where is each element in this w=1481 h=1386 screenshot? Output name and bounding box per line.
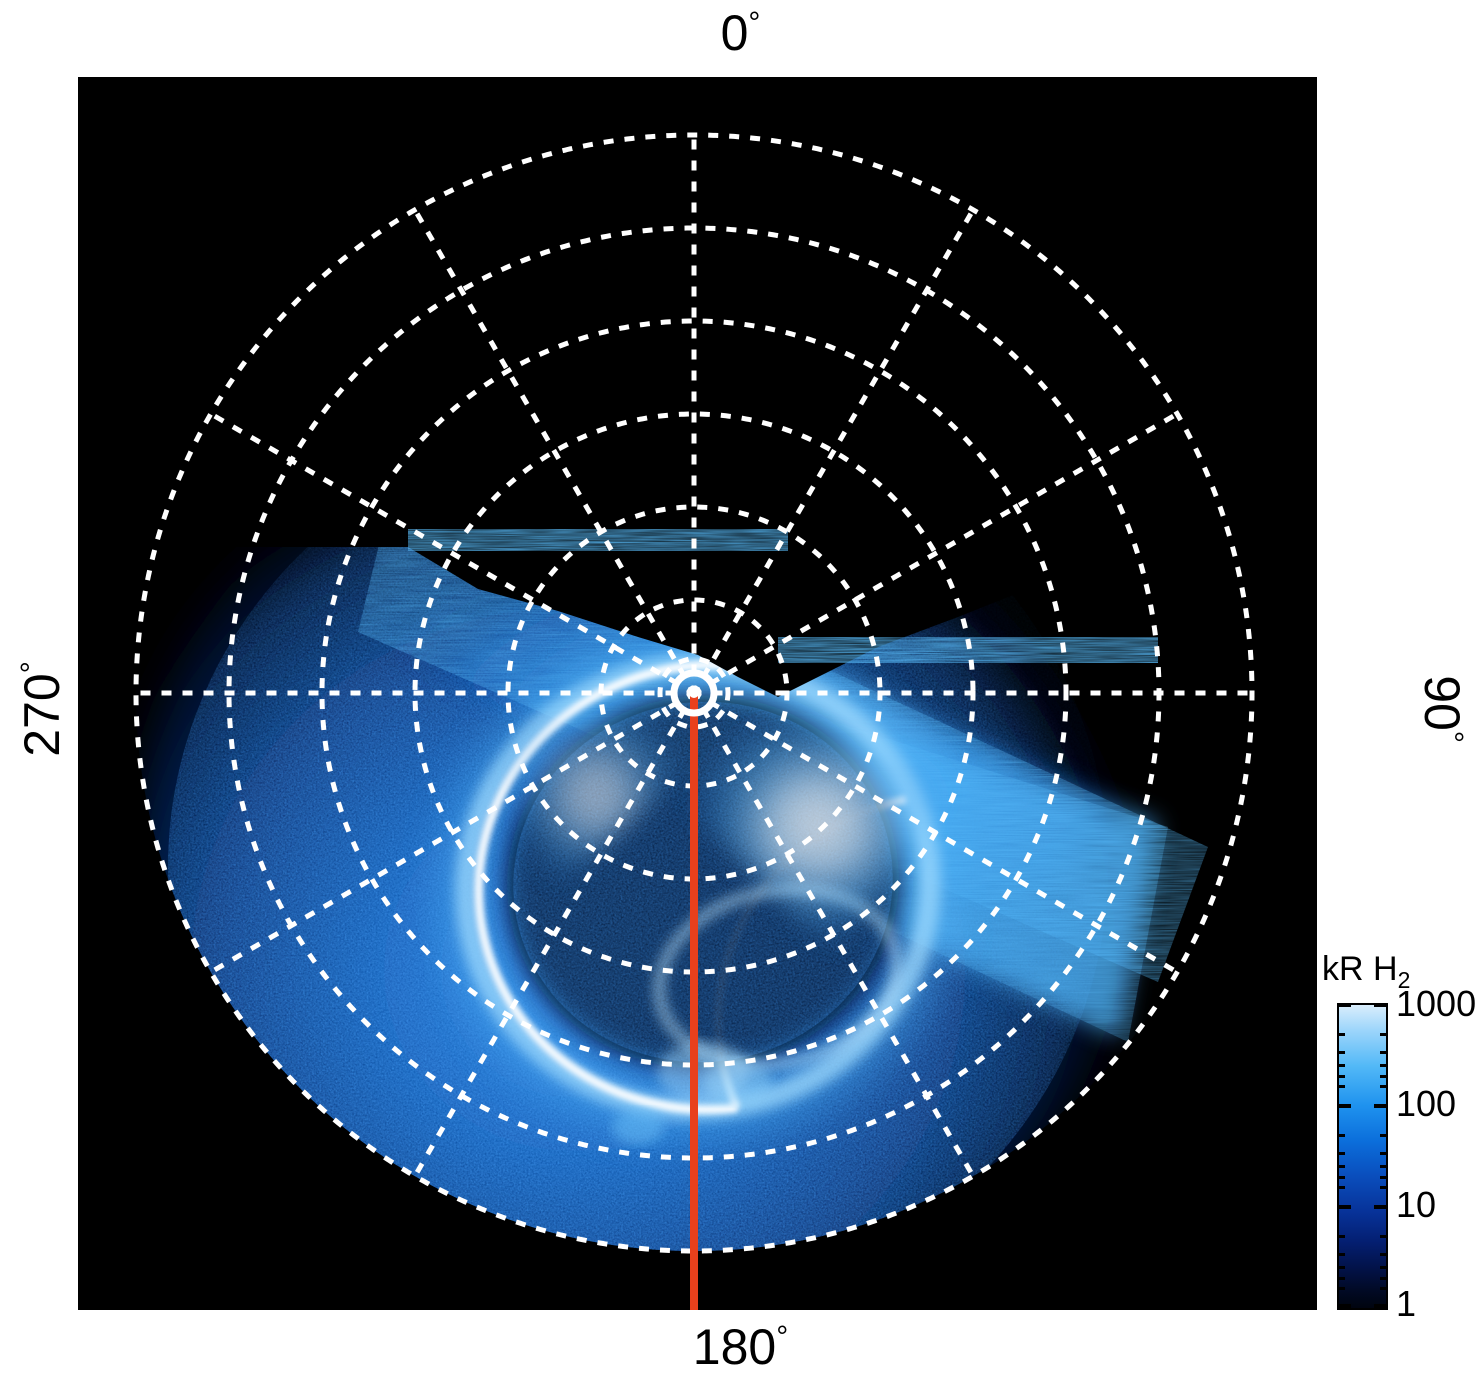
polar-aurora-figure: 0° 180° 270° 90° — [0, 0, 1481, 1386]
colorbar-tick-label-10: 10 — [1396, 1187, 1436, 1223]
degree-symbol-icon: ° — [1436, 731, 1469, 743]
angular-label-90: 90° — [1417, 589, 1467, 829]
colorbar-title-main: kR H — [1322, 950, 1398, 988]
colorbar-tick-label-1000: 1000 — [1396, 986, 1476, 1022]
colorbar: kR H2 — [1318, 950, 1481, 1330]
colorbar-ticks — [1337, 1003, 1388, 1310]
pole-marker-center — [689, 688, 699, 698]
colorbar-tick-label-100: 100 — [1396, 1086, 1456, 1122]
angular-label-180: 180° — [0, 1322, 1481, 1372]
colorbar-tick-label-1: 1 — [1396, 1286, 1416, 1322]
angular-label-0: 0° — [0, 8, 1481, 58]
degree-symbol-icon: ° — [776, 1320, 788, 1353]
angular-label-270: 270° — [17, 589, 67, 829]
polar-plot-panel — [78, 77, 1317, 1310]
degree-symbol-icon: ° — [15, 661, 48, 673]
polar-plot-canvas — [78, 77, 1317, 1310]
angular-label-0-value: 0 — [721, 5, 749, 61]
angular-label-90-value: 90 — [1414, 675, 1470, 731]
degree-symbol-icon: ° — [748, 6, 760, 39]
angular-label-180-value: 180 — [693, 1319, 776, 1375]
angular-label-270-value: 270 — [14, 673, 70, 756]
